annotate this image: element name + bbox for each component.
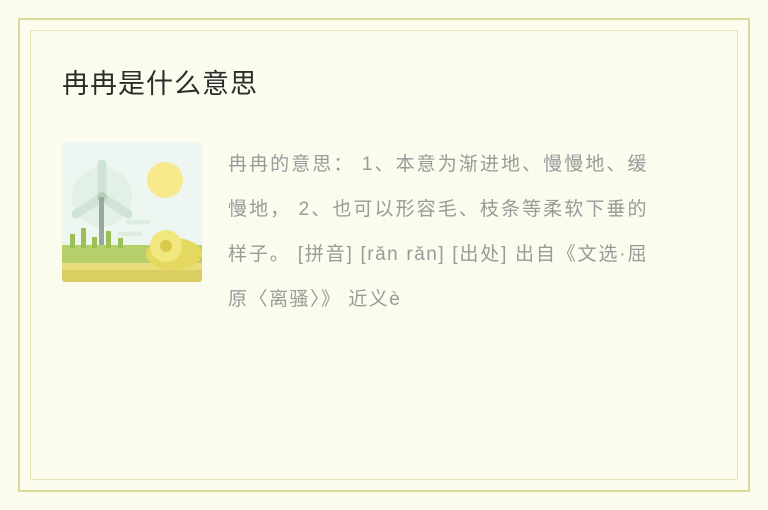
content-area: 冉冉是什么意思: [56, 56, 716, 454]
article-thumbnail: [62, 142, 202, 282]
article-paragraph: 冉冉的意思： 1、本意为渐进地、慢慢地、缓慢地， 2、也可以形容毛、枝条等柔软下…: [228, 142, 648, 322]
page-root: 冉冉是什么意思: [0, 0, 768, 510]
windmill-field-icon: [62, 142, 202, 282]
page-title: 冉冉是什么意思: [62, 64, 716, 104]
article-body: 冉冉的意思： 1、本意为渐进地、慢慢地、缓慢地， 2、也可以形容毛、枝条等柔软下…: [56, 142, 716, 322]
